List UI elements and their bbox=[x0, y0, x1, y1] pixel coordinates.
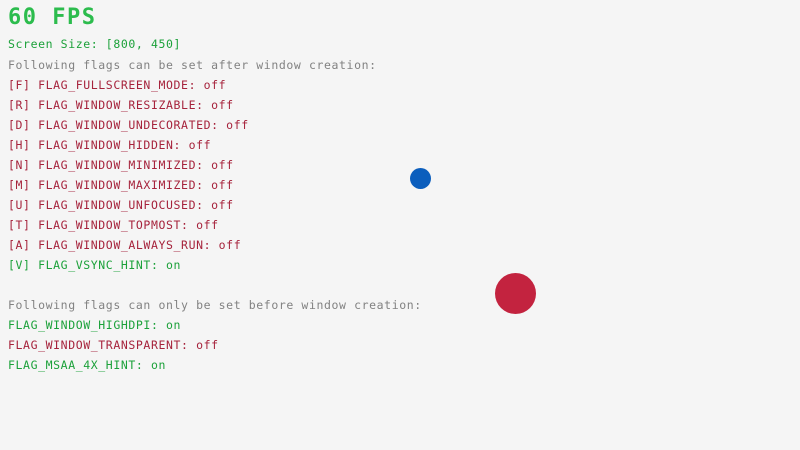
flag-row[interactable]: [A] FLAG_WINDOW_ALWAYS_RUN: off bbox=[8, 239, 241, 251]
flags-after-creation-header: Following flags can be set after window … bbox=[8, 59, 377, 71]
fps-counter: 60 FPS bbox=[8, 5, 96, 30]
flag-row[interactable]: [M] FLAG_WINDOW_MAXIMIZED: off bbox=[8, 179, 234, 191]
flags-before-creation-header: Following flags can only be set before w… bbox=[8, 299, 422, 311]
flag-row[interactable]: [N] FLAG_WINDOW_MINIMIZED: off bbox=[8, 159, 234, 171]
flag-row[interactable]: FLAG_MSAA_4X_HINT: on bbox=[8, 359, 166, 371]
flag-row[interactable]: [T] FLAG_WINDOW_TOPMOST: off bbox=[8, 219, 219, 231]
ball-blue-circle bbox=[410, 168, 431, 189]
flag-row[interactable]: [F] FLAG_FULLSCREEN_MODE: off bbox=[8, 79, 226, 91]
flag-row[interactable]: [R] FLAG_WINDOW_RESIZABLE: off bbox=[8, 99, 234, 111]
ball-red-circle bbox=[495, 273, 536, 314]
flag-row[interactable]: [D] FLAG_WINDOW_UNDECORATED: off bbox=[8, 119, 249, 131]
flag-row[interactable]: FLAG_WINDOW_HIGHDPI: on bbox=[8, 319, 181, 331]
flag-row[interactable]: [V] FLAG_VSYNC_HINT: on bbox=[8, 259, 181, 271]
screen-size-label: Screen Size: [800, 450] bbox=[8, 38, 181, 50]
raylib-window-canvas[interactable]: 60 FPS Screen Size: [800, 450] Following… bbox=[0, 0, 800, 450]
flag-row[interactable]: [H] FLAG_WINDOW_HIDDEN: off bbox=[8, 139, 211, 151]
flag-row[interactable]: FLAG_WINDOW_TRANSPARENT: off bbox=[8, 339, 219, 351]
flag-row[interactable]: [U] FLAG_WINDOW_UNFOCUSED: off bbox=[8, 199, 234, 211]
